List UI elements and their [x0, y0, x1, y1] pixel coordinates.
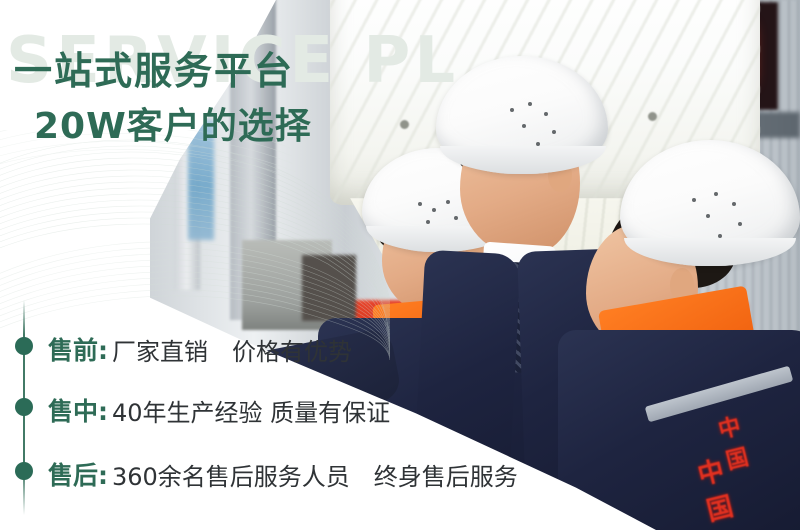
service-item-aftersale: 售后: 360余名售后服务人员 终身售后服务 [0, 456, 518, 492]
service-item-text: 360余名售后服务人员 终身售后服务 [112, 457, 518, 492]
service-item-label: 售中: [48, 392, 108, 428]
service-item-insale: 售中: 40年生产经验 质量有保证 [0, 392, 390, 428]
service-item-presale: 售前: 厂家直销 价格有优势 [0, 331, 352, 367]
headline-secondary: 20W客户的选择 [34, 97, 312, 149]
decorative-wave-mesh [0, 130, 390, 360]
service-item-label: 售后: [48, 456, 108, 492]
promo-banner: 中国 中国 [0, 0, 800, 530]
headline-primary: 一站式服务平台 [14, 40, 294, 95]
service-item-label: 售前: [48, 331, 108, 367]
service-item-text: 厂家直销 价格有优势 [112, 332, 352, 367]
service-item-text: 40年生产经验 质量有保证 [112, 393, 390, 428]
